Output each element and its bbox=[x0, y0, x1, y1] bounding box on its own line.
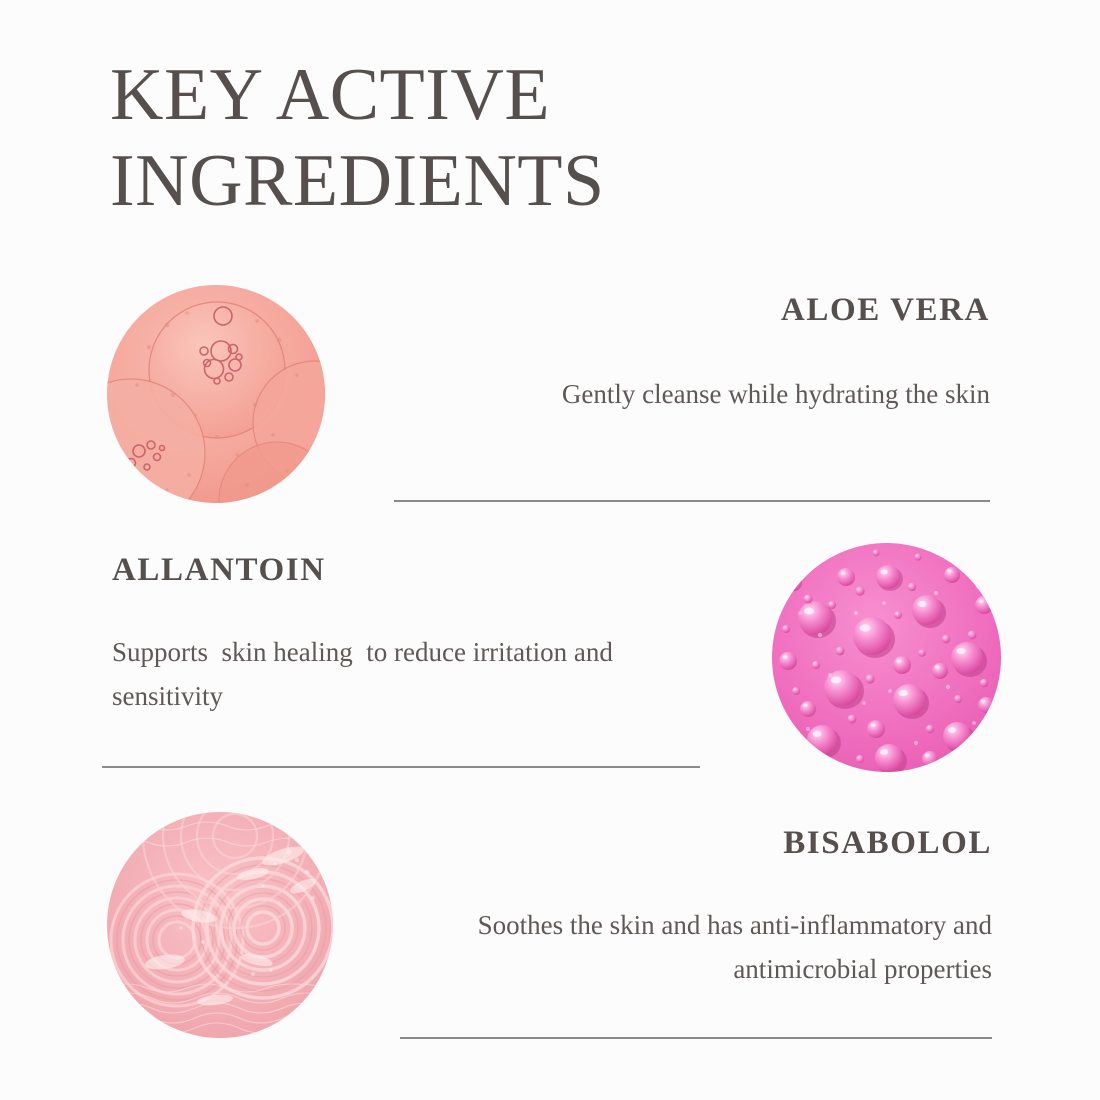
key-active-ingredients-poster: KEY ACTIVE INGREDIENTS bbox=[0, 0, 1100, 1100]
section-divider-1 bbox=[394, 500, 990, 502]
page-title: KEY ACTIVE INGREDIENTS bbox=[110, 52, 830, 224]
ingredient-name-aloe-vera: ALOE VERA bbox=[420, 290, 990, 330]
ingredient-description-aloe-vera: Gently cleanse while hydrating the skin bbox=[420, 372, 990, 416]
ingredient-text-bisabolol: BISABOLOL Soothes the skin and has anti-… bbox=[400, 823, 992, 991]
section-divider-2 bbox=[102, 766, 700, 768]
ingredient-text-allantoin: ALLANTOIN Supports skin healing to reduc… bbox=[112, 550, 702, 718]
ingredient-name-bisabolol: BISABOLOL bbox=[400, 823, 992, 863]
section-divider-3 bbox=[400, 1037, 992, 1039]
page-title-line-2: INGREDIENTS bbox=[110, 138, 830, 224]
ingredient-text-aloe-vera: ALOE VERA Gently cleanse while hydrating… bbox=[420, 290, 990, 416]
ingredient-description-bisabolol: Soothes the skin and has anti-inflammato… bbox=[400, 903, 992, 991]
allantoin-image bbox=[772, 543, 1001, 772]
page-title-line-1: KEY ACTIVE bbox=[110, 52, 830, 138]
ingredient-description-allantoin: Supports skin healing to reduce irritati… bbox=[112, 630, 702, 718]
bisabolol-image bbox=[107, 812, 333, 1038]
ingredient-name-allantoin: ALLANTOIN bbox=[112, 550, 702, 590]
aloe-vera-image bbox=[107, 285, 325, 503]
